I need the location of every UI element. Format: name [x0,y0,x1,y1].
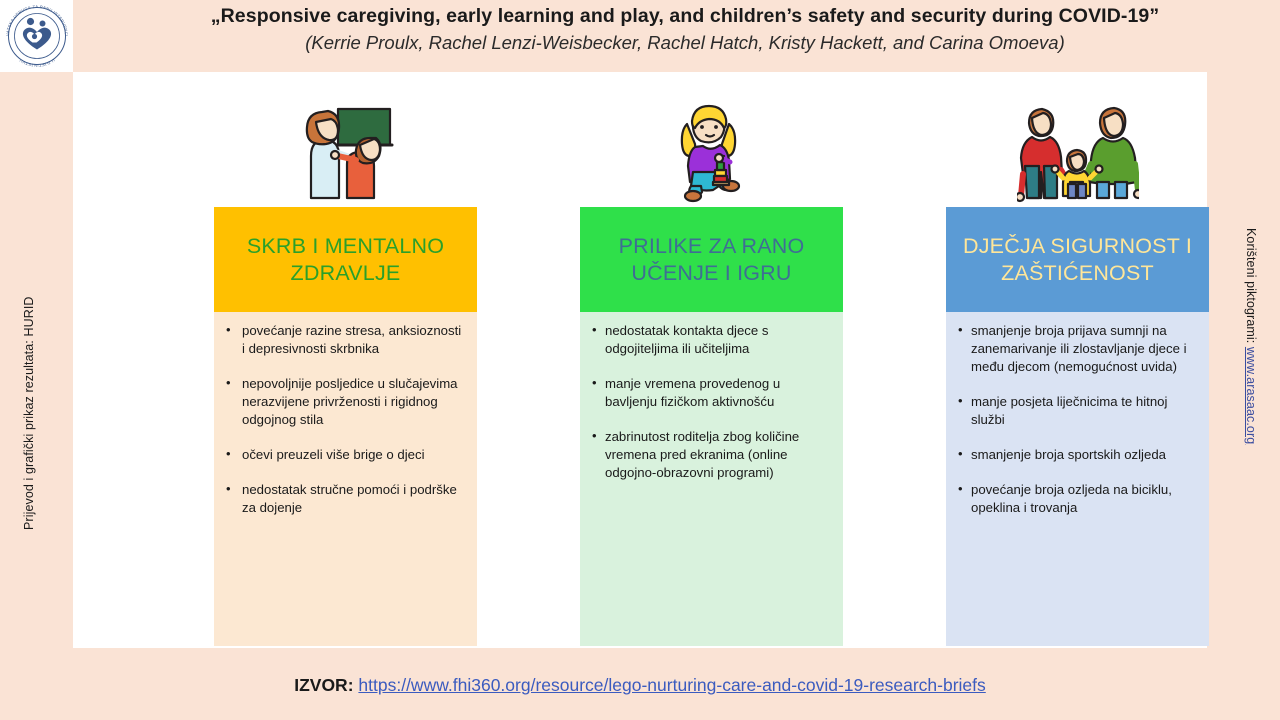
hurid-logo: HRVATSKA UDRUGA ZA RANU INTERVENCIJU U D… [0,0,73,72]
column-body-2: nedostatak kontakta djece s odgojiteljim… [580,312,843,646]
list-item: nedostatak stručne pomoći i podrške za d… [226,481,467,517]
slide-root: HRVATSKA UDRUGA ZA RANU INTERVENCIJU U D… [0,0,1280,720]
list-item: nedostatak kontakta djece s odgojiteljim… [592,322,833,358]
page-title: „Responsive caregiving, early learning a… [100,4,1270,29]
page-authors: (Kerrie Proulx, Rachel Lenzi-Weisbecker,… [100,31,1270,56]
pictogram-slot [214,94,477,207]
column-body-1: povećanje razine stresa, anksioznosti i … [214,312,477,646]
girl-playing-with-stacking-toy-icon [673,100,751,204]
source-link[interactable]: https://www.fhi360.org/resource/lego-nur… [358,675,985,695]
credit-right: Korišteni piktogrami: www.arasaac.org [1244,228,1258,528]
header: „Responsive caregiving, early learning a… [100,4,1270,56]
source-label: IZVOR: [294,675,353,695]
column-header-label: SKRB I MENTALNO ZDRAVLJE [222,233,469,285]
bullet-list-1: povećanje razine stresa, anksioznosti i … [226,322,467,517]
column-skrb-i-mentalno-zdravlje: SKRB I MENTALNO ZDRAVLJE povećanje razin… [214,94,477,646]
column-header-label: DJEČJA SIGURNOST I ZAŠTIĆENOST [954,233,1201,285]
list-item: manje vremena provedenog u bavljenju fiz… [592,375,833,411]
list-item: smanjenje broja prijava sumnji na zanema… [958,322,1199,376]
bullet-list-3: smanjenje broja prijava sumnji na zanema… [958,322,1199,517]
list-item: povećanje broja ozljeda na biciklu, opek… [958,481,1199,517]
column-prilike-za-rano-ucenje-i-igru: PRILIKE ZA RANO UČENJE I IGRU nedostatak… [580,94,843,646]
list-item: zabrinutost roditelja zbog količine vrem… [592,428,833,482]
credit-left: Prijevod i grafički prikaz rezultata: HU… [22,230,36,530]
hurid-circular-logo-icon: HRVATSKA UDRUGA ZA RANU INTERVENCIJU U D… [2,1,72,71]
svg-text:U DJETINJSTVU: U DJETINJSTVU [18,58,55,68]
list-item: povećanje razine stresa, anksioznosti i … [226,322,467,358]
columns-container: SKRB I MENTALNO ZDRAVLJE povećanje razin… [214,94,1209,646]
column-header-3: DJEČJA SIGURNOST I ZAŠTIĆENOST [946,207,1209,312]
column-header-label: PRILIKE ZA RANO UČENJE I IGRU [588,233,835,285]
family-holding-hands-icon [1017,100,1139,204]
credit-right-prefix: Korišteni piktogrami: [1244,228,1258,347]
bullet-list-2: nedostatak kontakta djece s odgojiteljim… [592,322,833,482]
column-body-3: smanjenje broja prijava sumnji na zanema… [946,312,1209,646]
teacher-and-child-at-chalkboard-icon [298,100,394,204]
column-header-2: PRILIKE ZA RANO UČENJE I IGRU [580,207,843,312]
pictogram-slot [946,94,1209,207]
column-header-1: SKRB I MENTALNO ZDRAVLJE [214,207,477,312]
pictogram-slot [580,94,843,207]
list-item: manje posjeta liječnicima te hitnoj služ… [958,393,1199,429]
source-footer: IZVOR: https://www.fhi360.org/resource/l… [0,675,1280,696]
list-item: nepovoljnije posljedice u slučajevima ne… [226,375,467,429]
arasaac-link[interactable]: www.arasaac.org [1244,347,1258,444]
column-djecja-sigurnost-i-zasticenost: DJEČJA SIGURNOST I ZAŠTIĆENOST smanjenje… [946,94,1209,646]
list-item: smanjenje broja sportskih ozljeda [958,446,1199,464]
content-card: SKRB I MENTALNO ZDRAVLJE povećanje razin… [73,72,1207,648]
list-item: očevi preuzeli više brige o djeci [226,446,467,464]
